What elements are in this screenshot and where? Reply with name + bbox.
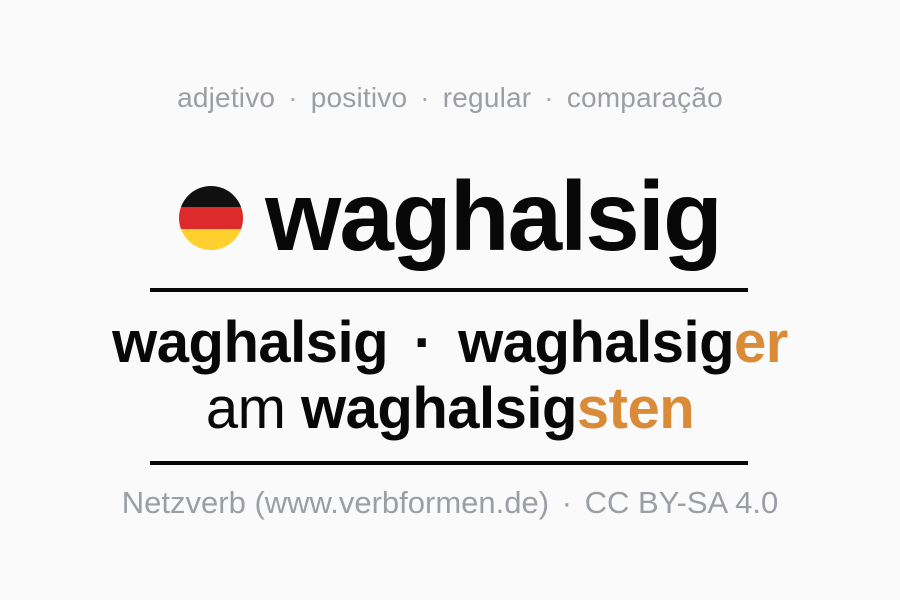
tag-separator-3: ·: [539, 82, 559, 113]
flag-band-black: [179, 186, 243, 207]
grammar-tag-regularity: regular: [443, 82, 532, 113]
attribution-footer: Netzverb (www.verbformen.de) · CC BY-SA …: [0, 482, 900, 524]
superlative-suffix: sten: [577, 376, 694, 441]
divider-top: [150, 288, 748, 292]
positive-form: waghalsig: [112, 310, 388, 375]
comparative-stem: waghalsig: [458, 310, 734, 375]
grammar-tag-degree: positivo: [311, 82, 408, 113]
comparison-line-positive-comparative: waghalsig · waghalsiger: [0, 310, 900, 376]
comparison-forms: waghalsig · waghalsiger am waghalsigsten: [0, 310, 900, 442]
form-separator: ·: [404, 310, 443, 375]
superlative-prefix: am: [206, 376, 286, 441]
divider-bottom: [150, 461, 748, 465]
grammar-tags: adjetivo · positivo · regular · comparaç…: [0, 78, 900, 118]
license-label: CC BY-SA 4.0: [585, 485, 779, 520]
headword-row: waghalsig: [0, 160, 900, 272]
tag-separator-2: ·: [415, 82, 435, 113]
german-flag-circle-icon: [179, 186, 243, 250]
tag-separator-1: ·: [283, 82, 303, 113]
flag-band-gold: [179, 229, 243, 250]
comparison-line-superlative: am waghalsigsten: [0, 376, 900, 442]
flag-band-red: [179, 207, 243, 228]
footer-separator: ·: [558, 485, 576, 520]
grammar-tag-comparison: comparação: [567, 82, 723, 113]
source-label: Netzverb (www.verbformen.de): [122, 485, 549, 520]
comparative-suffix: er: [734, 310, 788, 375]
adjective-declension-card: adjetivo · positivo · regular · comparaç…: [0, 0, 900, 600]
superlative-stem: waghalsig: [301, 376, 577, 441]
grammar-tag-word-class: adjetivo: [177, 82, 275, 113]
headword: waghalsig: [265, 164, 721, 268]
